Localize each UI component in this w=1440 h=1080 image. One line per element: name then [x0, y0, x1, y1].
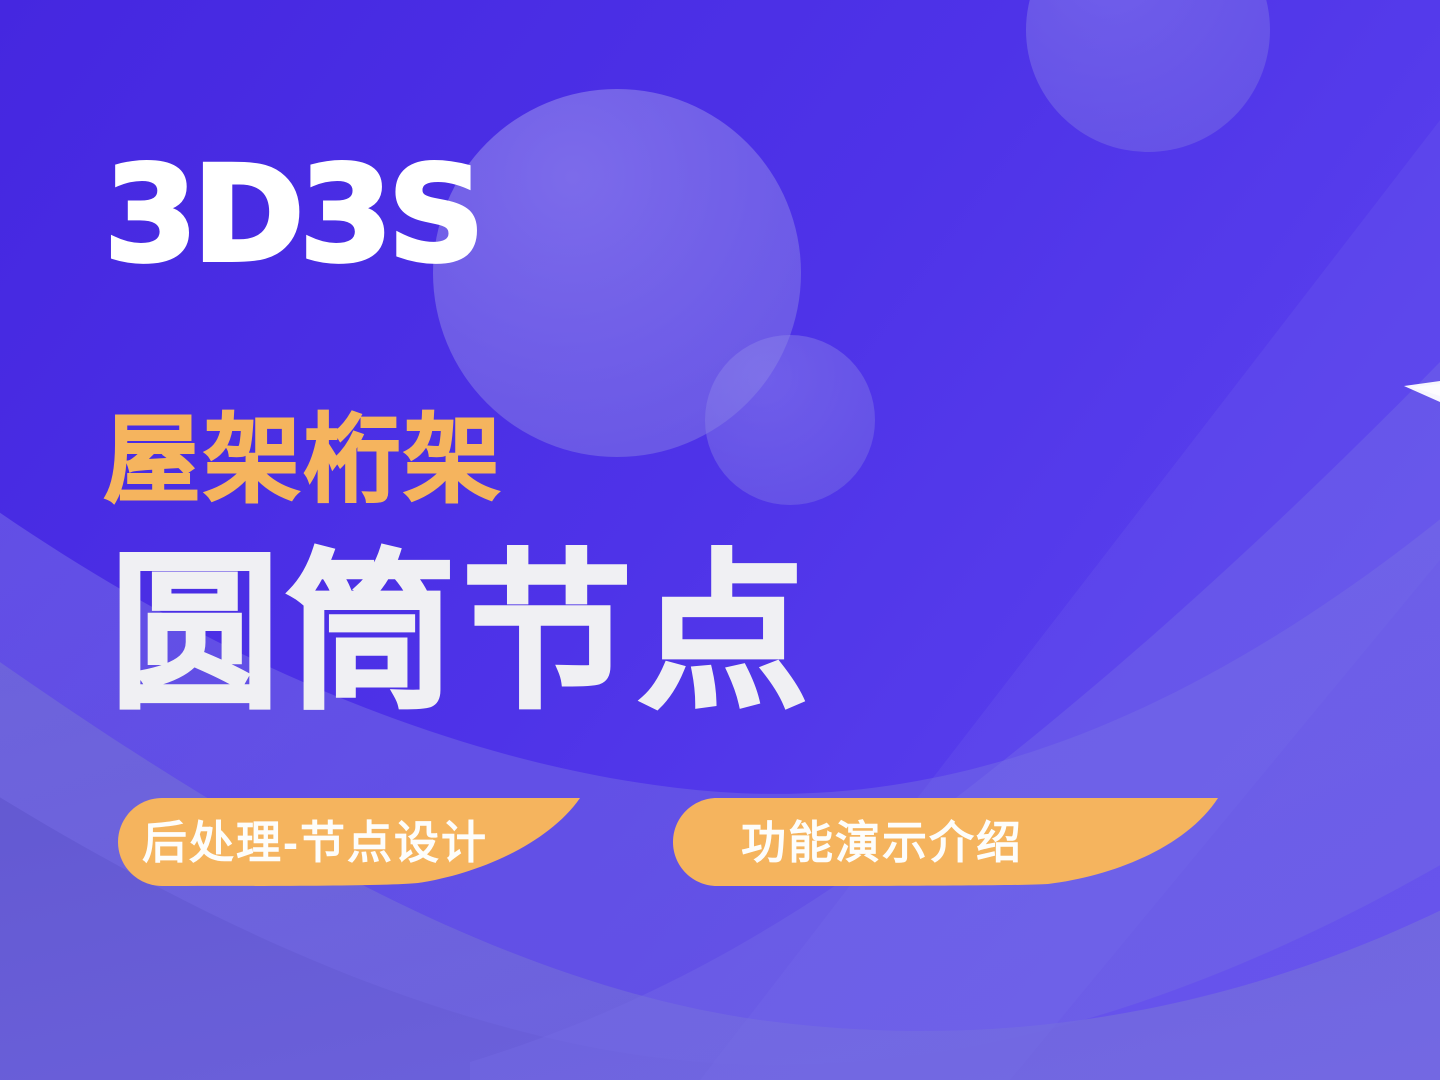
cover-canvas: 3D3S 屋架桁架 圆筒节点 后处理-节点设计 功能演示介绍	[0, 0, 1440, 1080]
content-layer: 3D3S 屋架桁架 圆筒节点 后处理-节点设计 功能演示介绍	[0, 0, 1440, 1080]
tag-badge-label: 功能演示介绍	[741, 820, 1023, 865]
page-title: 圆筒节点	[110, 549, 814, 719]
subtitle-text: 屋架桁架	[104, 413, 504, 509]
tag-badge-post-processing[interactable]: 后处理-节点设计	[118, 798, 580, 886]
tag-badge-label: 后处理-节点设计	[142, 820, 488, 865]
brand-logo-3d3s: 3D3S	[104, 149, 480, 281]
tag-badge-feature-demo[interactable]: 功能演示介绍	[673, 798, 1218, 886]
